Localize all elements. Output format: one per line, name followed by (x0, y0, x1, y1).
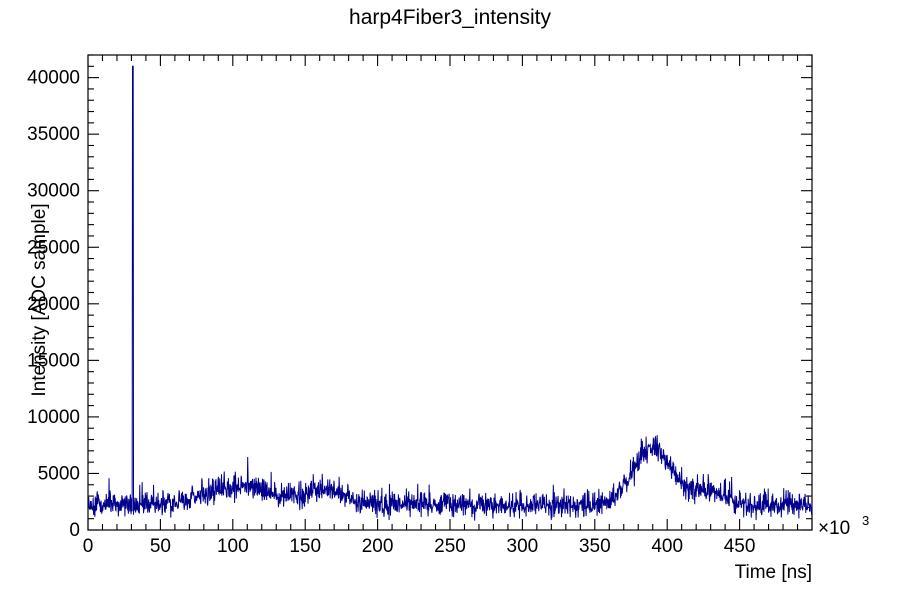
x-axis-multiplier-exponent: 3 (862, 513, 869, 528)
chart-plot-area: 050100150200250300350400450 050001000015… (0, 0, 900, 600)
x-tick-label: 0 (83, 536, 94, 557)
x-tick-label: 450 (724, 536, 756, 557)
x-tick-label: 100 (217, 536, 249, 557)
x-tick-label: 350 (579, 536, 611, 557)
y-axis-title: Intensity [ADC sample] (29, 203, 50, 396)
y-tick-label: 35000 (27, 124, 80, 145)
y-tick-label: 40000 (27, 68, 80, 89)
x-tick-label: 400 (651, 536, 683, 557)
y-tick-label: 5000 (38, 463, 80, 484)
y-tick-label: 30000 (27, 181, 80, 202)
x-tick-label: 300 (507, 536, 539, 557)
x-tick-label: 200 (362, 536, 394, 557)
x-tick-label: 250 (434, 536, 466, 557)
x-axis-tick-labels: 050100150200250300350400450 (83, 536, 756, 557)
x-tick-label: 50 (150, 536, 171, 557)
y-tick-label: 0 (69, 520, 80, 541)
x-axis-title: Time [ns] (735, 562, 812, 583)
root-canvas: harp4Fiber3_intensity 050100150200250300… (0, 0, 900, 600)
y-tick-label: 10000 (27, 407, 80, 428)
plot-frame (88, 55, 812, 530)
x-tick-label: 150 (289, 536, 321, 557)
x-axis-multiplier-label: ×10 (818, 518, 850, 539)
